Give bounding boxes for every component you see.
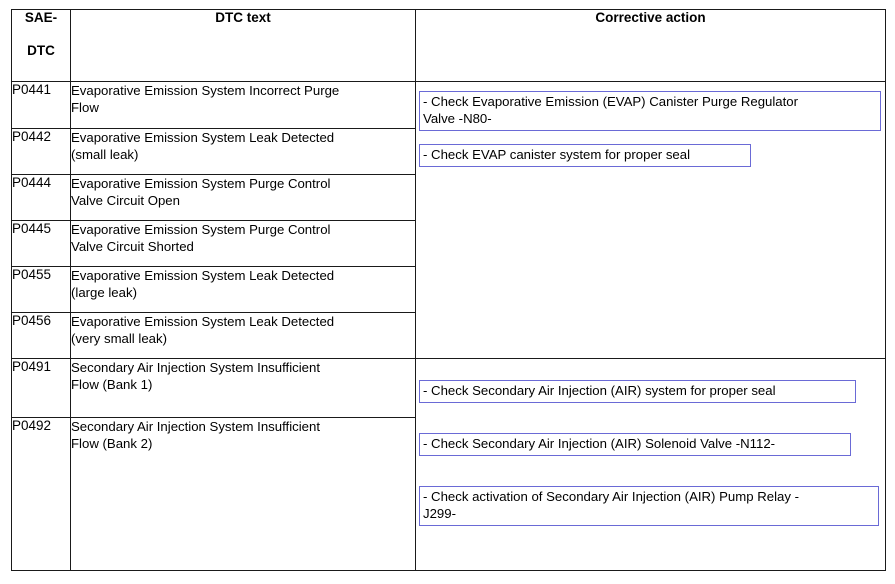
dtc-text-cell: Evaporative Emission System Leak Detecte… [71,129,416,175]
corrective-action-item[interactable]: - Check Secondary Air Injection (AIR) sy… [419,380,856,403]
dtc-text-line: Evaporative Emission System Purge Contro… [71,221,415,238]
dtc-code-cell: P0444 [12,175,71,221]
dtc-text-line: Flow (Bank 2) [71,435,415,452]
corrective-action-line: - Check EVAP canister system for proper … [423,147,748,164]
dtc-text-line: Valve Circuit Shorted [71,238,415,255]
corrective-action-cell-secondary-air: - Check Secondary Air Injection (AIR) sy… [416,359,886,571]
dtc-table-container: SAE- DTC DTC text Corrective action P044… [11,9,885,571]
column-header-corrective-action: Corrective action [416,10,886,82]
corrective-action-item[interactable]: - Check Evaporative Emission (EVAP) Cani… [419,91,881,131]
dtc-text-line: Valve Circuit Open [71,192,415,209]
dtc-code-cell: P0455 [12,267,71,313]
dtc-code-cell: P0456 [12,313,71,359]
dtc-text-line: Flow (Bank 1) [71,376,415,393]
dtc-text-line: Evaporative Emission System Leak Detecte… [71,313,415,330]
dtc-text-line: Evaporative Emission System Purge Contro… [71,175,415,192]
corrective-action-line: - Check Secondary Air Injection (AIR) sy… [423,383,853,400]
dtc-text-line: Evaporative Emission System Leak Detecte… [71,267,415,284]
table-row: P0491 Secondary Air Injection System Ins… [12,359,886,418]
dtc-code-cell: P0445 [12,221,71,267]
dtc-text-cell: Evaporative Emission System Leak Detecte… [71,267,416,313]
dtc-code-cell: P0441 [12,82,71,129]
dtc-text-line: Secondary Air Injection System Insuffici… [71,359,415,376]
corrective-action-item[interactable]: - Check Secondary Air Injection (AIR) So… [419,433,851,456]
dtc-text-cell: Evaporative Emission System Leak Detecte… [71,313,416,359]
header-row: SAE- DTC DTC text Corrective action [12,10,886,82]
corrective-action-line: Valve -N80- [423,111,878,128]
corrective-action-line: - Check activation of Secondary Air Inje… [423,489,876,506]
dtc-text-line: Evaporative Emission System Leak Detecte… [71,129,415,146]
corrective-action-line: - Check Secondary Air Injection (AIR) So… [423,436,848,453]
column-header-dtc-text: DTC text [71,10,416,82]
corrective-action-line: - Check Evaporative Emission (EVAP) Cani… [423,94,878,111]
dtc-text-line: Evaporative Emission System Incorrect Pu… [71,82,415,99]
column-header-sae-dtc-line1: SAE- [12,10,70,26]
corrective-action-stack: - Check Evaporative Emission (EVAP) Cani… [416,82,885,358]
corrective-action-cell-evap: - Check Evaporative Emission (EVAP) Cani… [416,82,886,359]
dtc-code-cell: P0491 [12,359,71,418]
corrective-action-item[interactable]: - Check activation of Secondary Air Inje… [419,486,879,526]
dtc-code-cell: P0492 [12,418,71,571]
corrective-action-line: J299- [423,506,876,523]
dtc-text-cell: Evaporative Emission System Purge Contro… [71,175,416,221]
table-body: P0441 Evaporative Emission System Incorr… [12,82,886,571]
column-header-sae-dtc: SAE- DTC [12,10,71,82]
dtc-text-cell: Evaporative Emission System Incorrect Pu… [71,82,416,129]
dtc-table: SAE- DTC DTC text Corrective action P044… [11,9,886,571]
dtc-text-line: (small leak) [71,146,415,163]
dtc-text-cell: Secondary Air Injection System Insuffici… [71,359,416,418]
table-header: SAE- DTC DTC text Corrective action [12,10,886,82]
column-header-sae-dtc-line2: DTC [12,43,70,59]
dtc-text-line: (large leak) [71,284,415,301]
dtc-text-line: Flow [71,99,415,116]
corrective-action-item[interactable]: - Check EVAP canister system for proper … [419,144,751,167]
table-row: P0441 Evaporative Emission System Incorr… [12,82,886,129]
dtc-code-cell: P0442 [12,129,71,175]
dtc-text-line: (very small leak) [71,330,415,347]
dtc-text-cell: Secondary Air Injection System Insuffici… [71,418,416,571]
corrective-action-stack: - Check Secondary Air Injection (AIR) sy… [416,359,885,570]
dtc-text-cell: Evaporative Emission System Purge Contro… [71,221,416,267]
dtc-text-line: Secondary Air Injection System Insuffici… [71,418,415,435]
